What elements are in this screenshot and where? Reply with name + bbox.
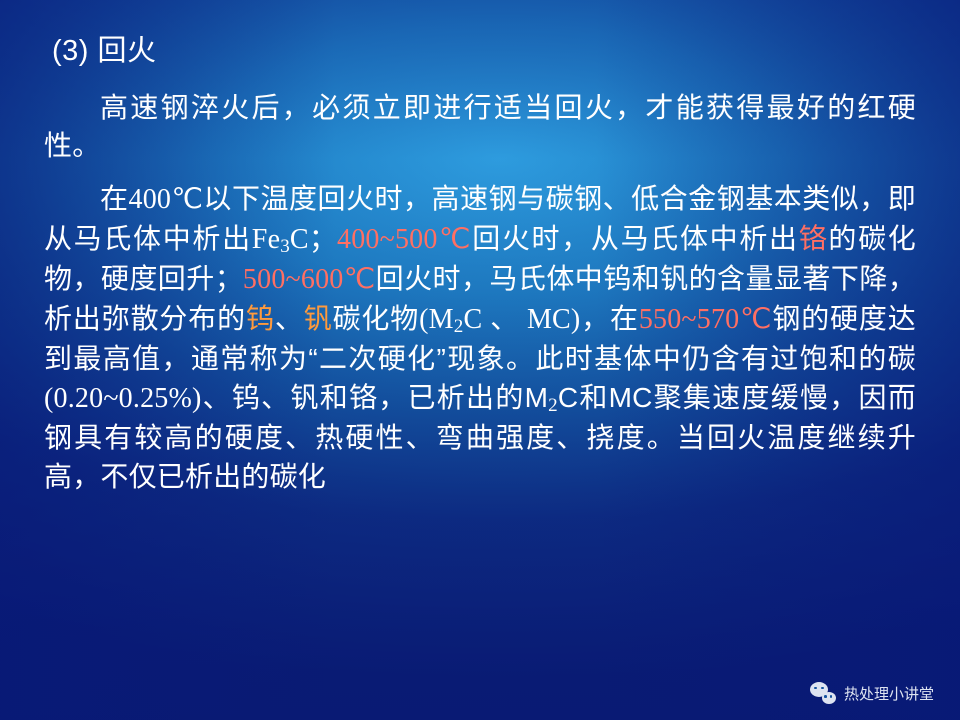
seg-6: ； — [309, 223, 337, 254]
seg-16: 碳化物 — [333, 303, 420, 334]
seg-20: ，在 — [580, 303, 638, 334]
seg-25-subscript: 2 — [548, 395, 558, 416]
seg-19-formula: C 、 MC) — [464, 304, 581, 335]
seg-14: 、 — [275, 303, 304, 334]
slide-canvas: (3) 回火 高速钢淬火后，必须立即进行适当回火，才能获得最好的红硬性。 在40… — [0, 0, 960, 720]
seg-9-element-chromium: 铬 — [799, 223, 829, 254]
slide-heading: (3) 回火 — [52, 34, 916, 69]
seg-11-temperature-range: 500~600℃ — [243, 264, 376, 295]
seg-7-temperature-range: 400~500℃ — [337, 224, 472, 255]
seg-1-temperature: 400℃ — [129, 184, 204, 215]
seg-18-subscript: 2 — [454, 316, 464, 337]
seg-24: 、钨、钒和铬，已析出的M — [202, 382, 549, 413]
paragraph-2: 在400℃以下温度回火时，高速钢与碳钢、低合金钢基本类似，即从马氏体中析出Fe3… — [44, 180, 916, 497]
seg-23-carbon-content: (0.20~0.25%) — [44, 383, 202, 414]
seg-17-formula: (M — [419, 304, 454, 335]
seg-21-temperature-range: 550~570℃ — [639, 304, 773, 335]
seg-4-subscript: 3 — [280, 236, 290, 257]
paragraph-1-text: 高速钢淬火后，必须立即进行适当回火，才能获得最好的红硬性。 — [44, 92, 916, 162]
wechat-account-name: 热处理小讲堂 — [844, 683, 934, 704]
seg-0: 在 — [100, 183, 129, 214]
wechat-footer: 热处理小讲堂 — [810, 682, 934, 704]
paragraph-1: 高速钢淬火后，必须立即进行适当回火，才能获得最好的红硬性。 — [44, 89, 916, 166]
slide-content: (3) 回火 高速钢淬火后，必须立即进行适当回火，才能获得最好的红硬性。 在40… — [0, 0, 960, 497]
seg-13-element-tungsten: 钨 — [246, 303, 275, 334]
seg-8: 回火时，从马氏体中析出 — [472, 223, 799, 254]
seg-5-formula: C — [290, 224, 309, 255]
seg-15-element-vanadium: 钒 — [304, 303, 333, 334]
wechat-icon — [810, 682, 836, 704]
seg-3-formula: Fe — [252, 224, 280, 255]
